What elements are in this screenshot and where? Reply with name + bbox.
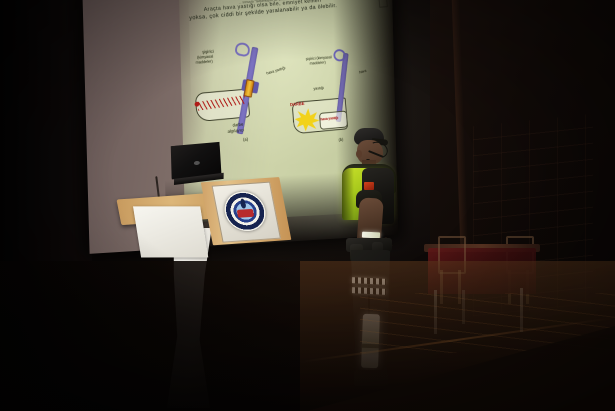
label-maddeler-b: maddeler) [310, 61, 326, 67]
gas-generator-a [244, 79, 255, 98]
floor-shadow-left [0, 261, 300, 411]
presenter-notes [133, 206, 208, 257]
label-maddeler-a: maddeler) [195, 60, 212, 66]
label-yastigi-b: yastığı [313, 86, 324, 91]
figure-caption-a: (a) [243, 137, 249, 143]
vest-shading [342, 168, 354, 220]
emblem-red-banner [237, 209, 255, 218]
steering-wheel-a [234, 41, 250, 57]
officer-ear [356, 150, 362, 158]
presenter-laptop[interactable] [168, 140, 227, 188]
presentation-photo: ... sonuçta "tamamlayıcı bir önlem" dir.… [0, 0, 615, 411]
stage-curtain-left [0, 0, 92, 300]
shoulder-badge-patch [364, 182, 374, 190]
